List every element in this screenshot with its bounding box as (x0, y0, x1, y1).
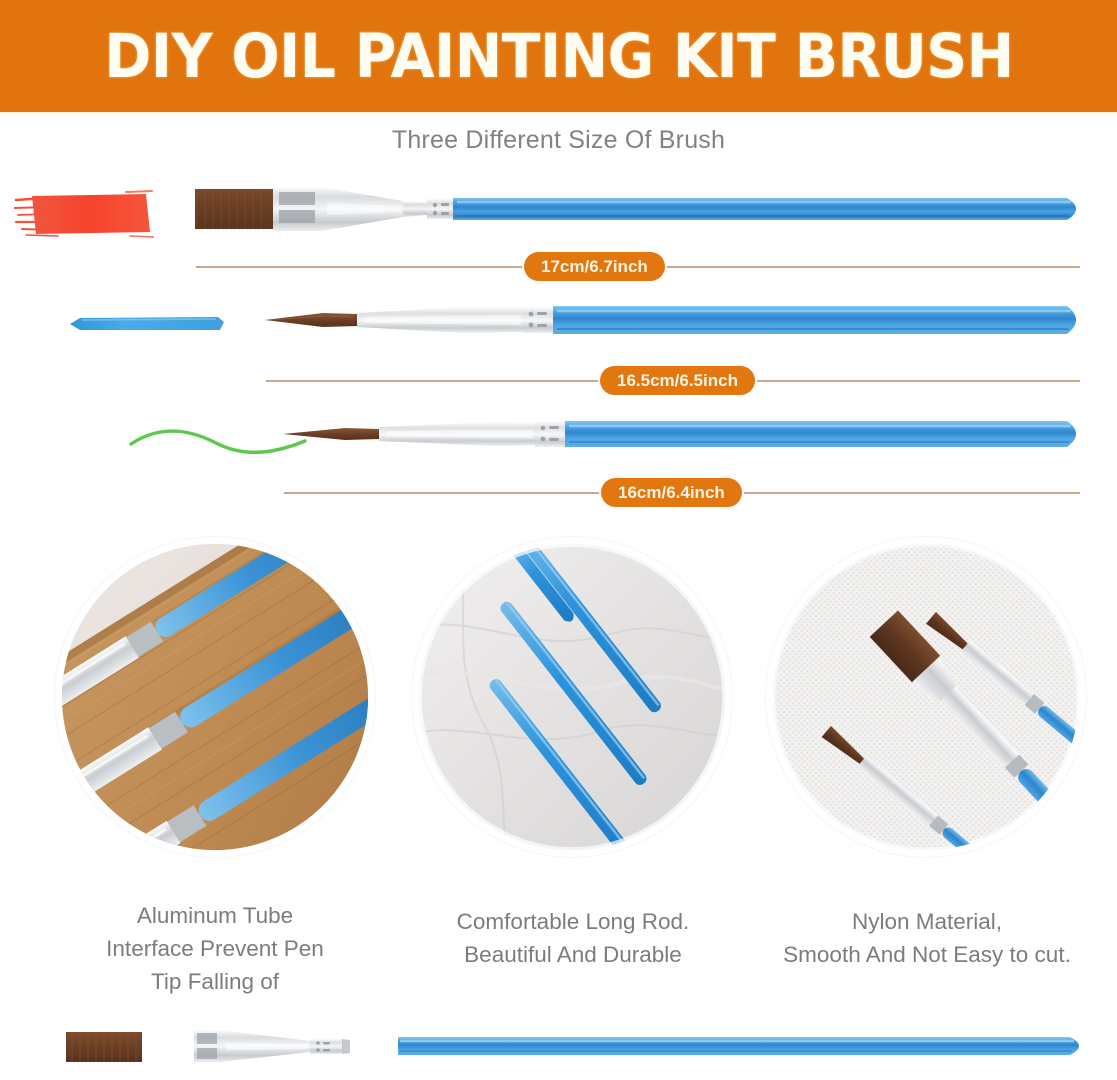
header-banner: DIY OIL PAINTING KIT BRUSH (0, 0, 1117, 112)
measure-badge-round: 16.5cm/6.5inch (600, 366, 755, 395)
brushes-on-bamboo-board-photo (55, 537, 375, 857)
brushes-on-white-canvas-photo (766, 537, 1086, 857)
feature-photos (0, 537, 1117, 897)
flat-brush-illustration (195, 183, 1085, 235)
caption-line: Aluminum Tube (52, 899, 378, 932)
caption-aluminum-tube: Aluminum Tube Interface Prevent Pen Tip … (52, 899, 378, 998)
brown-bristle-head (64, 1030, 144, 1064)
exploded-parts-strip (0, 1012, 1117, 1080)
page-title: DIY OIL PAINTING KIT BRUSH (104, 21, 1013, 92)
silver-aluminum-ferrule (192, 1028, 352, 1064)
measure-flat-brush: 17cm/6.7inch (0, 252, 1117, 282)
feature-long-rod (412, 537, 732, 857)
product-infographic: DIY OIL PAINTING KIT BRUSH Three Differe… (0, 0, 1117, 1080)
subtitle: Three Different Size Of Brush (0, 126, 1117, 155)
measure-badge-flat: 17cm/6.7inch (524, 252, 665, 281)
caption-line: Comfortable Long Rod. (410, 905, 736, 938)
caption-line: Interface Prevent Pen (52, 932, 378, 965)
measure-liner-brush: 16cm/6.4inch (0, 478, 1117, 508)
caption-nylon-material: Nylon Material, Smooth And Not Easy to c… (762, 905, 1092, 971)
feature-nylon-material (766, 537, 1086, 857)
blue-rods-on-marble-photo (412, 537, 732, 857)
feature-captions: Aluminum Tube Interface Prevent Pen Tip … (0, 893, 1117, 1003)
header-underline-divider (0, 112, 1117, 117)
green-paint-stroke (128, 424, 308, 460)
red-paint-stroke (14, 188, 154, 240)
caption-long-rod: Comfortable Long Rod. Beautiful And Dura… (410, 905, 736, 971)
round-brush-illustration (265, 302, 1085, 338)
measure-round-brush: 16.5cm/6.5inch (0, 366, 1117, 396)
liner-brush-illustration (283, 418, 1085, 450)
caption-line: Tip Falling of (52, 965, 378, 998)
blue-paint-stroke (68, 316, 226, 332)
blue-rod-handle (398, 1036, 1088, 1056)
caption-line: Smooth And Not Easy to cut. (762, 938, 1092, 971)
feature-aluminum-tube (55, 537, 375, 857)
measure-badge-liner: 16cm/6.4inch (601, 478, 742, 507)
caption-line: Nylon Material, (762, 905, 1092, 938)
caption-line: Beautiful And Durable (410, 938, 736, 971)
